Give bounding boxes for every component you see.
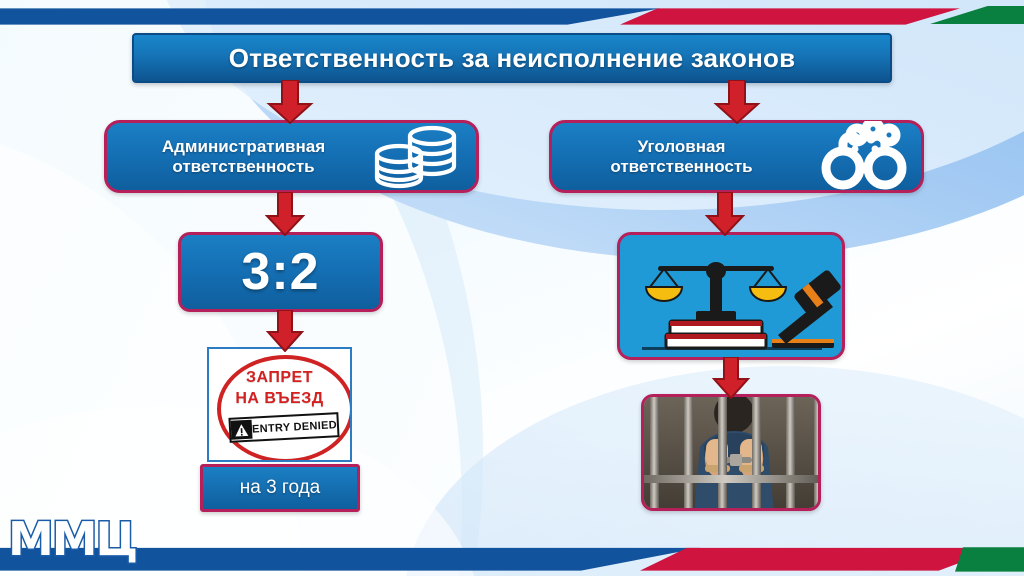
warning-triangle-icon bbox=[231, 420, 253, 440]
ribbon-segment-red bbox=[620, 0, 960, 30]
criminal-label-line2: ответственность bbox=[610, 157, 752, 176]
prisoner-behind-bars-photo bbox=[644, 397, 821, 511]
criminal-responsibility-box[interactable]: Уголовная ответственность bbox=[549, 120, 924, 193]
handcuffs-icon bbox=[809, 123, 915, 190]
criminal-label-line1: Уголовная bbox=[638, 137, 726, 156]
arrow-ratio-to-entry-sign bbox=[266, 310, 304, 352]
duration-label: на 3 года bbox=[240, 477, 321, 499]
administrative-responsibility-box[interactable]: Административная ответственность bbox=[104, 120, 479, 193]
sign-line1: ЗАПРЕТ bbox=[209, 369, 350, 387]
scales-books-gavel-icon bbox=[620, 235, 845, 360]
slide-canvas: Ответственность за неисполнение законов … bbox=[0, 0, 1024, 576]
bottom-ribbon bbox=[0, 540, 1024, 576]
arrow-title-to-criminal bbox=[712, 80, 762, 124]
arrow-criminal-to-scales bbox=[705, 192, 745, 236]
scales-of-justice-illustration bbox=[617, 232, 845, 360]
logo: ММЦ bbox=[8, 508, 128, 570]
ribbon-segment-green bbox=[930, 0, 1024, 30]
ratio-box[interactable]: 3:2 bbox=[178, 232, 383, 312]
arrow-administrative-to-ratio bbox=[265, 192, 305, 236]
ribbon-segment-red bbox=[640, 540, 1000, 576]
arrow-title-to-administrative bbox=[265, 80, 315, 124]
top-ribbon bbox=[0, 0, 1024, 30]
entry-denied-sign: ЗАПРЕТ НА ВЪЕЗД ENTRY DENIED bbox=[207, 347, 352, 462]
administrative-label-line1: Административная bbox=[162, 137, 325, 156]
logo-text: ММЦ bbox=[8, 508, 128, 570]
slide-title-bar: Ответственность за неисполнение законов bbox=[132, 33, 892, 83]
entry-denied-text: ENTRY DENIED bbox=[252, 419, 338, 435]
ratio-value: 3:2 bbox=[241, 242, 319, 302]
ribbon-segment-blue bbox=[0, 0, 660, 30]
ribbon-segment-green bbox=[955, 540, 1024, 576]
arrow-scales-to-prison bbox=[712, 357, 750, 399]
page-title: Ответственность за неисполнение законов bbox=[229, 43, 796, 74]
duration-box[interactable]: на 3 года bbox=[200, 464, 360, 512]
sign-line2: НА ВЪЕЗД bbox=[209, 390, 350, 408]
prisoner-photo bbox=[641, 394, 821, 511]
coins-icon bbox=[370, 123, 470, 190]
administrative-label-line2: ответственность bbox=[172, 157, 314, 176]
